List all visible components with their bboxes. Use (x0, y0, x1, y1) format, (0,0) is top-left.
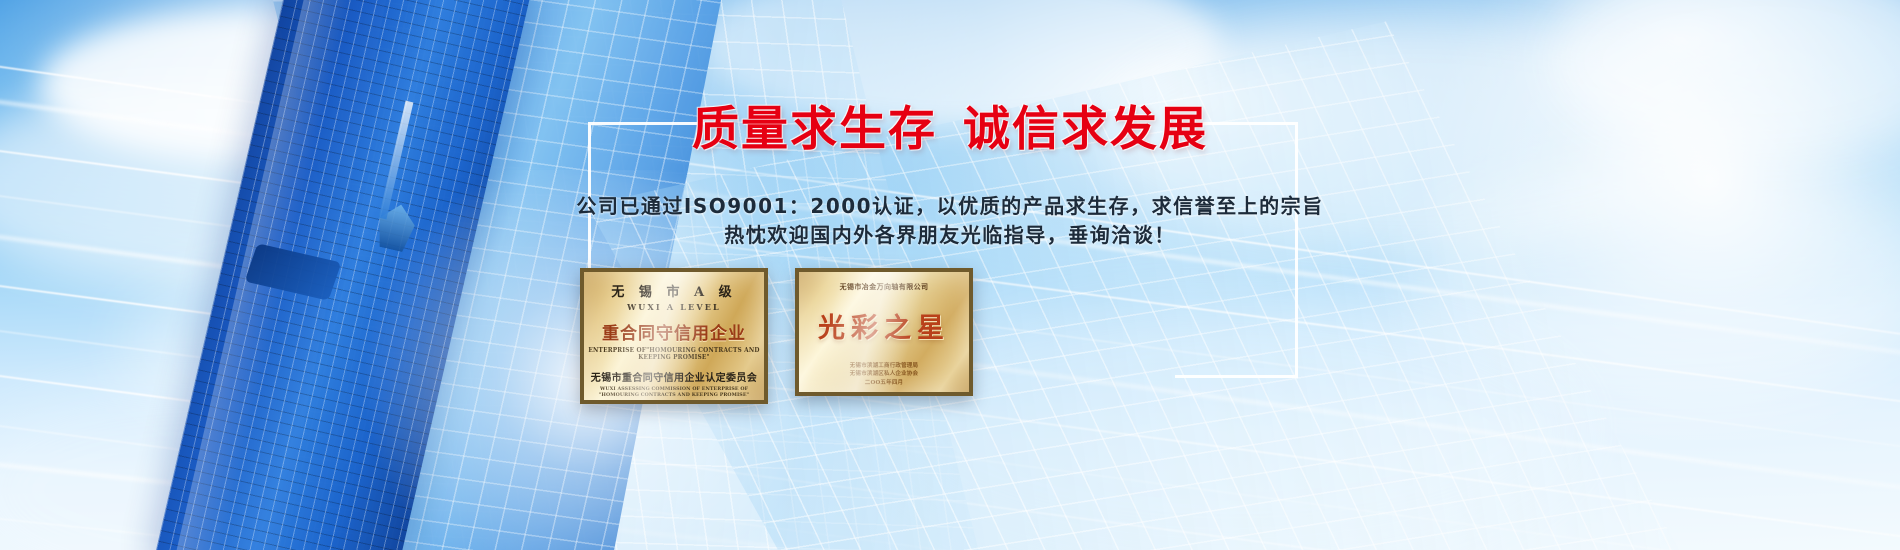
plaque-a-grade-cn: 无 锡 市 A 级 (611, 281, 736, 300)
plaque-b-issuer-line-1: 无锡市滨湖工商行政管理局 (850, 362, 918, 370)
plaque-a-issuer-cn: 无锡市重合同守信用企业认定委员会 (591, 369, 757, 384)
banner-subtitle-line-1: 公司已通过ISO9001：2000认证，以优质的产品求生存，求信誉至上的宗旨 (0, 190, 1900, 219)
plaque-b-content: 无锡市冶金万向轴有限公司 光彩之星 无锡市滨湖工商行政管理局 无锡市滨湖区私人企… (799, 272, 969, 392)
company-hero-banner: 质量求生存诚信求发展 公司已通过ISO9001：2000认证，以优质的产品求生存… (0, 0, 1900, 550)
plaque-a-issuer-en: WUXI ASSESSING COMMISSION OF ENTERPRISE … (589, 386, 760, 398)
headline-part-1: 质量求生存 (692, 102, 937, 157)
banner-headline: 质量求生存诚信求发展 (0, 90, 1900, 159)
plaque-a-content: 无 锡 市 A 级 WUXI A LEVEL 重合同守信用企业 ENTERPRI… (584, 272, 764, 400)
plaque-b-issuer-line-3: 二OO五年四月 (850, 379, 918, 387)
plaque-a-title-cn: 重合同守信用企业 (602, 319, 746, 344)
plaque-b-issuer-line-2: 无锡市滨湖区私人企业协会 (850, 370, 918, 378)
headline-part-2: 诚信求发展 (963, 102, 1208, 157)
banner-content: 质量求生存诚信求发展 公司已通过ISO9001：2000认证，以优质的产品求生存… (0, 0, 1900, 550)
plaque-b-title-cn: 光彩之星 (818, 306, 950, 345)
award-plaque-group: 无 锡 市 A 级 WUXI A LEVEL 重合同守信用企业 ENTERPRI… (0, 268, 1900, 428)
award-plaque-guangcai-star: 无锡市冶金万向轴有限公司 光彩之星 无锡市滨湖工商行政管理局 无锡市滨湖区私人企… (795, 268, 973, 396)
plaque-b-issuer: 无锡市滨湖工商行政管理局 无锡市滨湖区私人企业协会 二OO五年四月 (850, 362, 918, 387)
plaque-b-company: 无锡市冶金万向轴有限公司 (840, 282, 929, 292)
plaque-a-title-en: ENTERPRISE OF"HOMOURING CONTRACTS AND KE… (587, 347, 762, 361)
plaque-a-grade-en: WUXI A LEVEL (627, 302, 721, 312)
banner-subtitle-line-2: 热忱欢迎国内外各界朋友光临指导，垂询洽谈！ (0, 219, 1900, 248)
award-plaque-wuxi-a-level: 无 锡 市 A 级 WUXI A LEVEL 重合同守信用企业 ENTERPRI… (580, 268, 768, 404)
